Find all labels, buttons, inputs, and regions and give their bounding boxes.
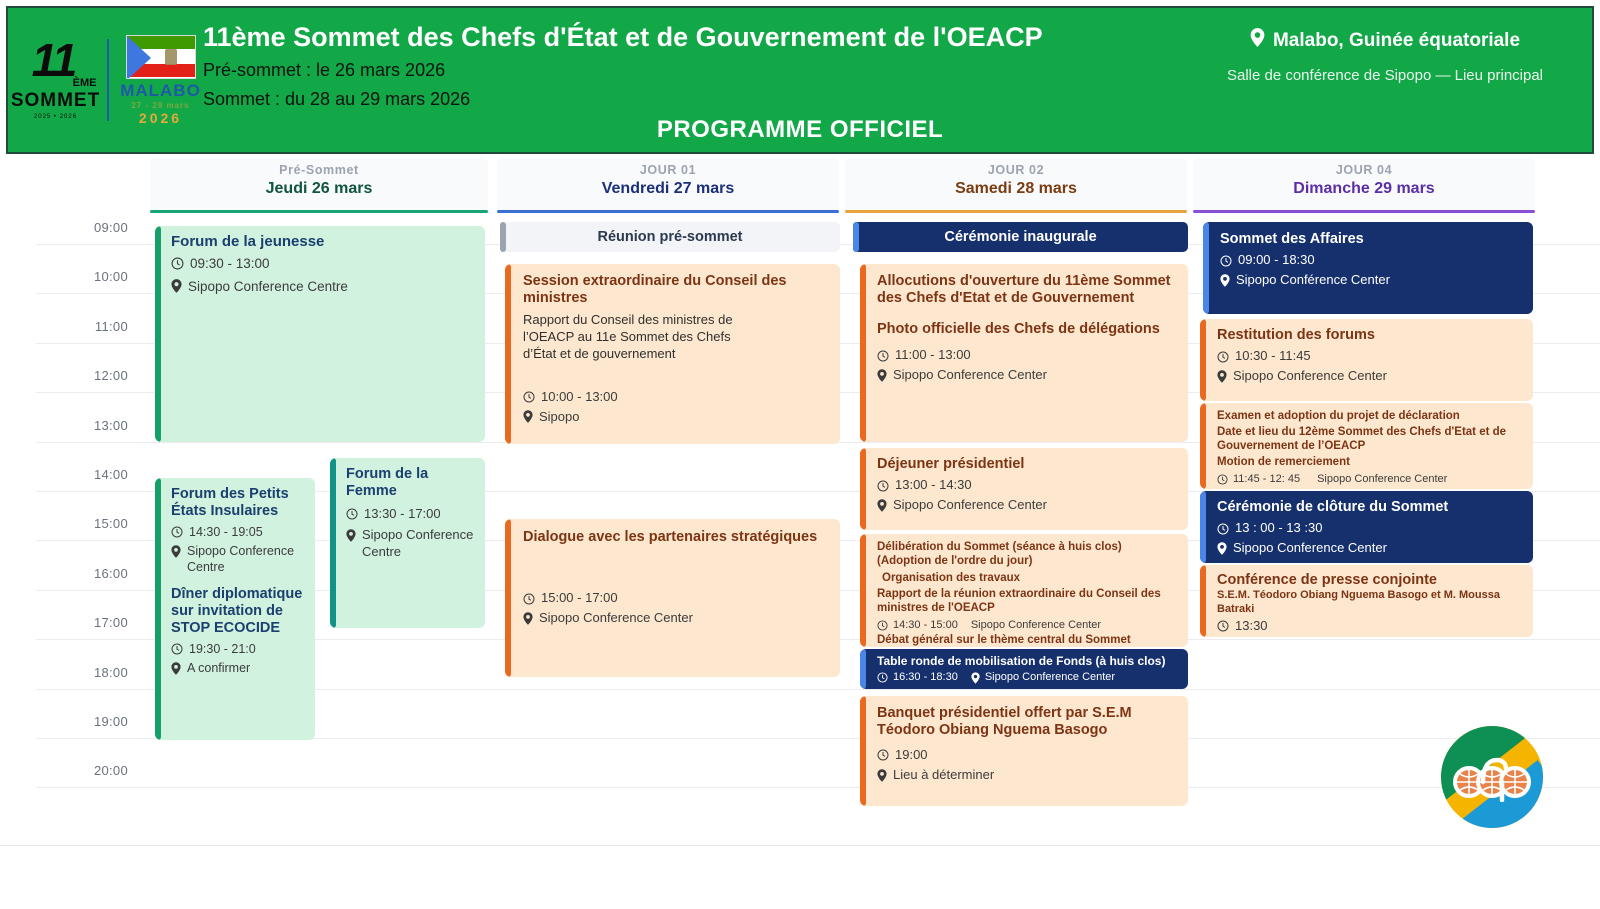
event-sommet-des-affaires[interactable]: Sommet des Affaires 09:00 - 18:30 Sipopo… [1203, 222, 1533, 314]
clock-icon [877, 350, 889, 362]
event-title: Forum de la jeunesse [171, 233, 475, 251]
event-place: Sipopo Conférence Center [1220, 272, 1523, 289]
event-time-text: 14:30 - 19:05 [189, 524, 263, 540]
event-forum-de-la-femme[interactable]: Forum de la Femme 13:30 - 17:00 Sipopo C… [330, 458, 485, 628]
event-time-text: 11:00 - 13:00 [895, 347, 971, 364]
equatorial-guinea-flag-icon [126, 35, 196, 79]
time-axis: 09:0010:0011:0012:0013:0014:0015:0016:00… [0, 156, 140, 856]
event-pill-reunion-pre-sommet[interactable]: Réunion pré-sommet [500, 222, 840, 252]
event-accent-bar [505, 264, 511, 444]
event-place-text: Lieu à déterminer [893, 767, 994, 784]
event-accent-bar [853, 222, 859, 252]
map-pin-icon [1250, 28, 1265, 53]
map-pin-icon [1217, 370, 1227, 383]
event-place-text: Sipopo Conference Centre [362, 527, 477, 561]
event-time-text: 09:00 - 18:30 [1238, 252, 1315, 269]
event-banquet-presidentiel[interactable]: Banquet présidentiel offert par S.E.M Té… [860, 696, 1188, 806]
clock-icon [1217, 351, 1229, 363]
event-accent-bar [860, 696, 866, 806]
event-accent-bar [860, 649, 866, 689]
day-kicker: JOUR 02 [845, 163, 1187, 177]
map-pin-icon [1217, 542, 1227, 555]
acp-logo-mark [1441, 726, 1543, 828]
deliberation-line-5: Débat général sur le thème central du So… [877, 634, 1180, 647]
event-time: 13 : 00 - 13 :30 [1217, 520, 1523, 537]
day-date: Jeudi 26 mars [150, 180, 488, 198]
event-accent-bar [330, 458, 336, 628]
event-place-text: Sipopo Conference Center [1233, 540, 1387, 557]
day-kicker: JOUR 04 [1193, 163, 1535, 177]
event-pill-ceremonie-inaugurale[interactable]: Cérémonie inaugurale [853, 222, 1188, 252]
event-time-text: 10:00 - 13:00 [541, 389, 618, 406]
schedule-grid: 09:0010:0011:0012:0013:0014:0015:0016:00… [0, 156, 1600, 856]
deliberation-line-1: Délibération du Sommet (séance à huis cl… [877, 541, 1180, 555]
event-time: 14:30 - 15:00 Sipopo Conference Center [877, 618, 1180, 632]
map-pin-icon [877, 499, 887, 512]
day-column-underline [497, 210, 839, 213]
header-title-block: 11ème Sommet des Chefs d'État et de Gouv… [203, 8, 1192, 112]
event-accent-bar [155, 226, 161, 442]
host-city-label: MALABO [120, 81, 201, 101]
day-column-header-1[interactable]: Pré-SommetJeudi 26 mars [150, 158, 488, 210]
map-pin-icon [1220, 274, 1230, 287]
map-pin-icon [877, 769, 887, 782]
examen-line-3: Motion de remerciement [1217, 456, 1525, 470]
programme-page: 11 ÈME SOMMET 2025 • 2026 MALABO 27 - 29… [0, 0, 1600, 909]
summit-number: 11 [32, 40, 76, 81]
deliberation-line-2: (Adoption de l'ordre du jour) [877, 555, 1180, 569]
day-date: Dimanche 29 mars [1193, 180, 1535, 198]
event-meta: 11:45 - 12: 45 Sipopo Conference Center [1217, 472, 1525, 486]
day-column-underline [150, 210, 488, 213]
event-place-text: Sipopo Conference Center [985, 670, 1115, 684]
event-accent-bar [1200, 565, 1206, 637]
event-pill-label: Cérémonie inaugurale [944, 229, 1096, 245]
event-accent-bar [1200, 403, 1206, 489]
day-kicker: JOUR 01 [497, 163, 839, 177]
event-title: Session extraordinaire du Conseil des mi… [523, 273, 830, 308]
time-label: 13:00 [8, 418, 128, 433]
event-time: 10:30 - 11:45 [1217, 348, 1523, 365]
clock-icon [171, 526, 183, 538]
event-title: Allocutions d'ouverture du 11ème Sommet … [877, 273, 1178, 308]
day-date: Vendredi 27 mars [497, 180, 839, 198]
event-table-ronde-mobilisation-fonds[interactable]: Table ronde de mobilisation de Fonds (à … [860, 649, 1188, 689]
event-place: Sipopo Conference Centre [171, 278, 475, 296]
venue-text: Salle de conférence de Sipopo — Lieu pri… [1192, 67, 1578, 84]
event-time-text: 09:30 - 13:00 [190, 255, 270, 273]
page-title: 11ème Sommet des Chefs d'État et de Gouv… [203, 22, 1192, 53]
event-pill-label: Réunion pré-sommet [597, 229, 742, 245]
event-place-text: Sipopo Conférence Center [1236, 272, 1390, 289]
event-deliberation-sommet[interactable]: Délibération du Sommet (séance à huis cl… [860, 534, 1188, 647]
event-time-text: 13:00 - 14:30 [895, 477, 972, 494]
event-place: Sipopo Conference Centre [346, 527, 477, 561]
event-time: 19:00 [877, 747, 1178, 764]
event-time: 13:30 [1217, 618, 1525, 635]
event-place-secondary-text: A confirmer [187, 660, 250, 676]
clock-icon [1217, 620, 1229, 632]
time-label: 16:00 [8, 566, 128, 581]
event-time-text: 13:30 [1235, 618, 1268, 635]
page-header: 11 ÈME SOMMET 2025 • 2026 MALABO 27 - 29… [6, 6, 1594, 154]
event-accent-bar [860, 264, 866, 442]
map-pin-icon [523, 612, 533, 625]
day-kicker: Pré-Sommet [150, 163, 488, 177]
event-time-text: 10:30 - 11:45 [1235, 348, 1311, 365]
map-pin-icon [171, 662, 181, 675]
event-accent-bar [505, 519, 511, 677]
clock-icon [1217, 474, 1228, 485]
event-place-text: Sipopo Conference Center [971, 618, 1101, 632]
event-title: Forum de la Femme [346, 466, 477, 501]
map-pin-icon [523, 410, 533, 423]
event-examen-adoption-declaration[interactable]: Examen et adoption du projet de déclarat… [1200, 403, 1533, 489]
time-label: 15:00 [8, 516, 128, 531]
clock-icon [1217, 523, 1229, 535]
event-place-text: Sipopo Conference Center [1233, 368, 1387, 385]
clock-icon [171, 257, 184, 270]
event-time: 10:00 - 13:00 [523, 389, 830, 406]
event-place: Sipopo Conference Center [877, 367, 1178, 384]
event-title: Conférence de presse conjointe [1217, 572, 1525, 589]
event-dialogue-partenaires[interactable]: Dialogue avec les partenaires stratégiqu… [505, 519, 840, 677]
event-title: Cérémonie de clôture du Sommet [1217, 499, 1523, 516]
event-place-secondary: A confirmer [171, 660, 307, 676]
time-label: 17:00 [8, 615, 128, 630]
event-time-text: 16:30 - 18:30 [893, 670, 958, 684]
summit-emblem: 11 ÈME SOMMET 2025 • 2026 [15, 40, 97, 120]
event-place: Sipopo Conference Center [1217, 540, 1523, 557]
event-place-text: Sipopo Conference Center [539, 610, 693, 627]
event-place: Sipopo [523, 409, 830, 426]
event-place-text: Sipopo Conference Centre [188, 278, 348, 296]
day-column-underline [1193, 210, 1535, 213]
event-ceremonie-de-cloture[interactable]: Cérémonie de clôture du Sommet 13 : 00 -… [1200, 491, 1533, 563]
time-label: 10:00 [8, 269, 128, 284]
time-label: 18:00 [8, 665, 128, 680]
event-forum-petits-etats-insulaires[interactable]: Forum des Petits États Insulaires 14:30 … [155, 478, 315, 740]
event-time: 11:00 - 13:00 [877, 347, 1178, 364]
event-place: Sipopo Conference Center [1217, 368, 1523, 385]
host-brand: MALABO 27 - 29 mars 2026 [119, 35, 203, 126]
event-time-text: 13 : 00 - 13 :30 [1235, 520, 1322, 537]
footer-divider [0, 845, 1600, 846]
clock-icon [877, 620, 888, 631]
summit-word: SOMMET [11, 90, 100, 112]
event-accent-bar [1203, 222, 1209, 314]
day-column-underline [845, 210, 1187, 213]
event-time: 15:00 - 17:00 [523, 590, 830, 607]
event-place-text: Sipopo [539, 409, 579, 426]
event-conference-de-presse-conjointe[interactable]: Conférence de presse conjointe S.E.M. Té… [1200, 565, 1533, 637]
event-time-secondary-text: 19:30 - 21:0 [189, 641, 256, 657]
event-title: Sommet des Affaires [1220, 231, 1523, 248]
host-dates-label: 27 - 29 mars [131, 101, 189, 110]
clock-icon [877, 480, 889, 492]
summit-dates: Sommet : du 28 au 29 mars 2026 [203, 87, 1192, 111]
clock-icon [877, 749, 889, 761]
time-label: 19:00 [8, 714, 128, 729]
event-time-secondary: 19:30 - 21:0 [171, 641, 307, 657]
clock-icon [523, 391, 535, 403]
event-title: Table ronde de mobilisation de Fonds (à … [877, 654, 1180, 668]
event-forum-de-la-jeunesse[interactable]: Forum de la jeunesse 09:30 - 13:00 Sipop… [155, 226, 485, 442]
examen-line-1: Examen et adoption du projet de déclarat… [1217, 410, 1525, 424]
event-session-extraordinaire[interactable]: Session extraordinaire du Conseil des mi… [505, 264, 840, 444]
event-title: Déjeuner présidentiel [877, 456, 1178, 473]
event-time-text: 11:45 - 12: 45 [1233, 472, 1300, 486]
event-accent-bar [1200, 319, 1206, 401]
time-label: 12:00 [8, 368, 128, 383]
event-title: Banquet présidentiel offert par S.E.M Té… [877, 705, 1178, 740]
event-dejeuner-presidentiel[interactable]: Déjeuner présidentiel 13:00 - 14:30 Sipo… [860, 448, 1188, 530]
event-time: 09:00 - 18:30 [1220, 252, 1523, 269]
event-time-text: 15:00 - 17:00 [541, 590, 618, 607]
time-label: 20:00 [8, 763, 128, 778]
event-place: Lieu à déterminer [877, 767, 1178, 784]
clock-icon [346, 508, 358, 520]
event-time: 13:00 - 14:30 [877, 477, 1178, 494]
event-description: Rapport du Conseil des ministres de l’OE… [523, 311, 733, 363]
summit-ordinal-suffix: ÈME [73, 77, 97, 89]
event-accent-bar [1200, 491, 1206, 563]
map-pin-icon [346, 529, 356, 542]
event-place: Sipopo Conference Centre [171, 543, 307, 576]
event-accent-bar [860, 534, 866, 647]
acp-logo [1441, 726, 1543, 828]
clock-icon [877, 672, 888, 683]
header-location-block: Malabo, Guinée équatoriale Salle de conf… [1192, 8, 1592, 84]
event-title: Forum des Petits États Insulaires [171, 486, 307, 521]
event-title-secondary: Dîner diplomatique sur invitation de STO… [171, 586, 307, 638]
brand-divider [107, 39, 109, 121]
examen-line-2: Date et lieu du 12ème Sommet des Chefs d… [1217, 426, 1525, 454]
event-restitution-des-forums[interactable]: Restitution des forums 10:30 - 11:45 Sip… [1200, 319, 1533, 401]
event-time-text: 14:30 - 15:00 [893, 618, 958, 632]
event-time-text: 13:30 - 17:00 [364, 506, 441, 523]
time-label: 11:00 [8, 319, 128, 334]
event-place-text: Sipopo Conference Center [893, 367, 1047, 384]
deliberation-line-4: Rapport de la réunion extraordinaire du … [877, 588, 1180, 616]
event-accent-bar [500, 222, 506, 252]
event-accent-bar [155, 478, 161, 740]
event-time: 14:30 - 19:05 [171, 524, 307, 540]
event-place: Sipopo Conference Center [523, 610, 830, 627]
map-pin-icon [877, 369, 887, 382]
clock-icon [523, 593, 535, 605]
event-subtitle: S.E.M. Téodoro Obiang Nguema Basogo et M… [1217, 589, 1525, 615]
day-date: Samedi 28 mars [845, 180, 1187, 198]
grid-line [36, 787, 1600, 788]
time-label: 14:00 [8, 467, 128, 482]
time-label: 09:00 [8, 220, 128, 235]
map-pin-icon [171, 279, 182, 293]
clock-icon [1220, 255, 1232, 267]
day-column-header-3[interactable]: JOUR 02Samedi 28 mars [845, 158, 1187, 210]
event-place: Sipopo Conference Center [877, 497, 1178, 514]
deliberation-line-3: Organisation des travaux [877, 572, 1180, 586]
clock-icon [171, 643, 183, 655]
day-column-header-4[interactable]: JOUR 04Dimanche 29 mars [1193, 158, 1535, 210]
event-place-text: Sipopo Conference Center [1317, 472, 1447, 486]
event-accent-bar [860, 448, 866, 530]
event-title: Restitution des forums [1217, 327, 1523, 344]
map-pin-icon [971, 672, 980, 684]
event-time: 09:30 - 13:00 [171, 255, 475, 273]
location-line: Malabo, Guinée équatoriale [1192, 28, 1578, 53]
location-text: Malabo, Guinée équatoriale [1273, 30, 1520, 52]
map-pin-icon [171, 545, 181, 558]
event-time: 13:30 - 17:00 [346, 506, 477, 523]
presummit-dates: Pré-sommet : le 26 mars 2026 [203, 58, 1192, 82]
event-allocutions-ouverture[interactable]: Allocutions d'ouverture du 11ème Sommet … [860, 264, 1188, 442]
day-column-header-2[interactable]: JOUR 01Vendredi 27 mars [497, 158, 839, 210]
event-title-secondary: Photo officielle des Chefs de délégation… [877, 321, 1178, 338]
event-meta: 16:30 - 18:30 Sipopo Conference Center [877, 670, 1180, 684]
event-place-text: Sipopo Conference Centre [187, 543, 307, 576]
event-title: Dialogue avec les partenaires stratégiqu… [523, 529, 830, 546]
programme-banner: PROGRAMME OFFICIEL [8, 116, 1592, 144]
event-time-text: 19:00 [895, 747, 928, 764]
event-place-text: Sipopo Conference Center [893, 497, 1047, 514]
